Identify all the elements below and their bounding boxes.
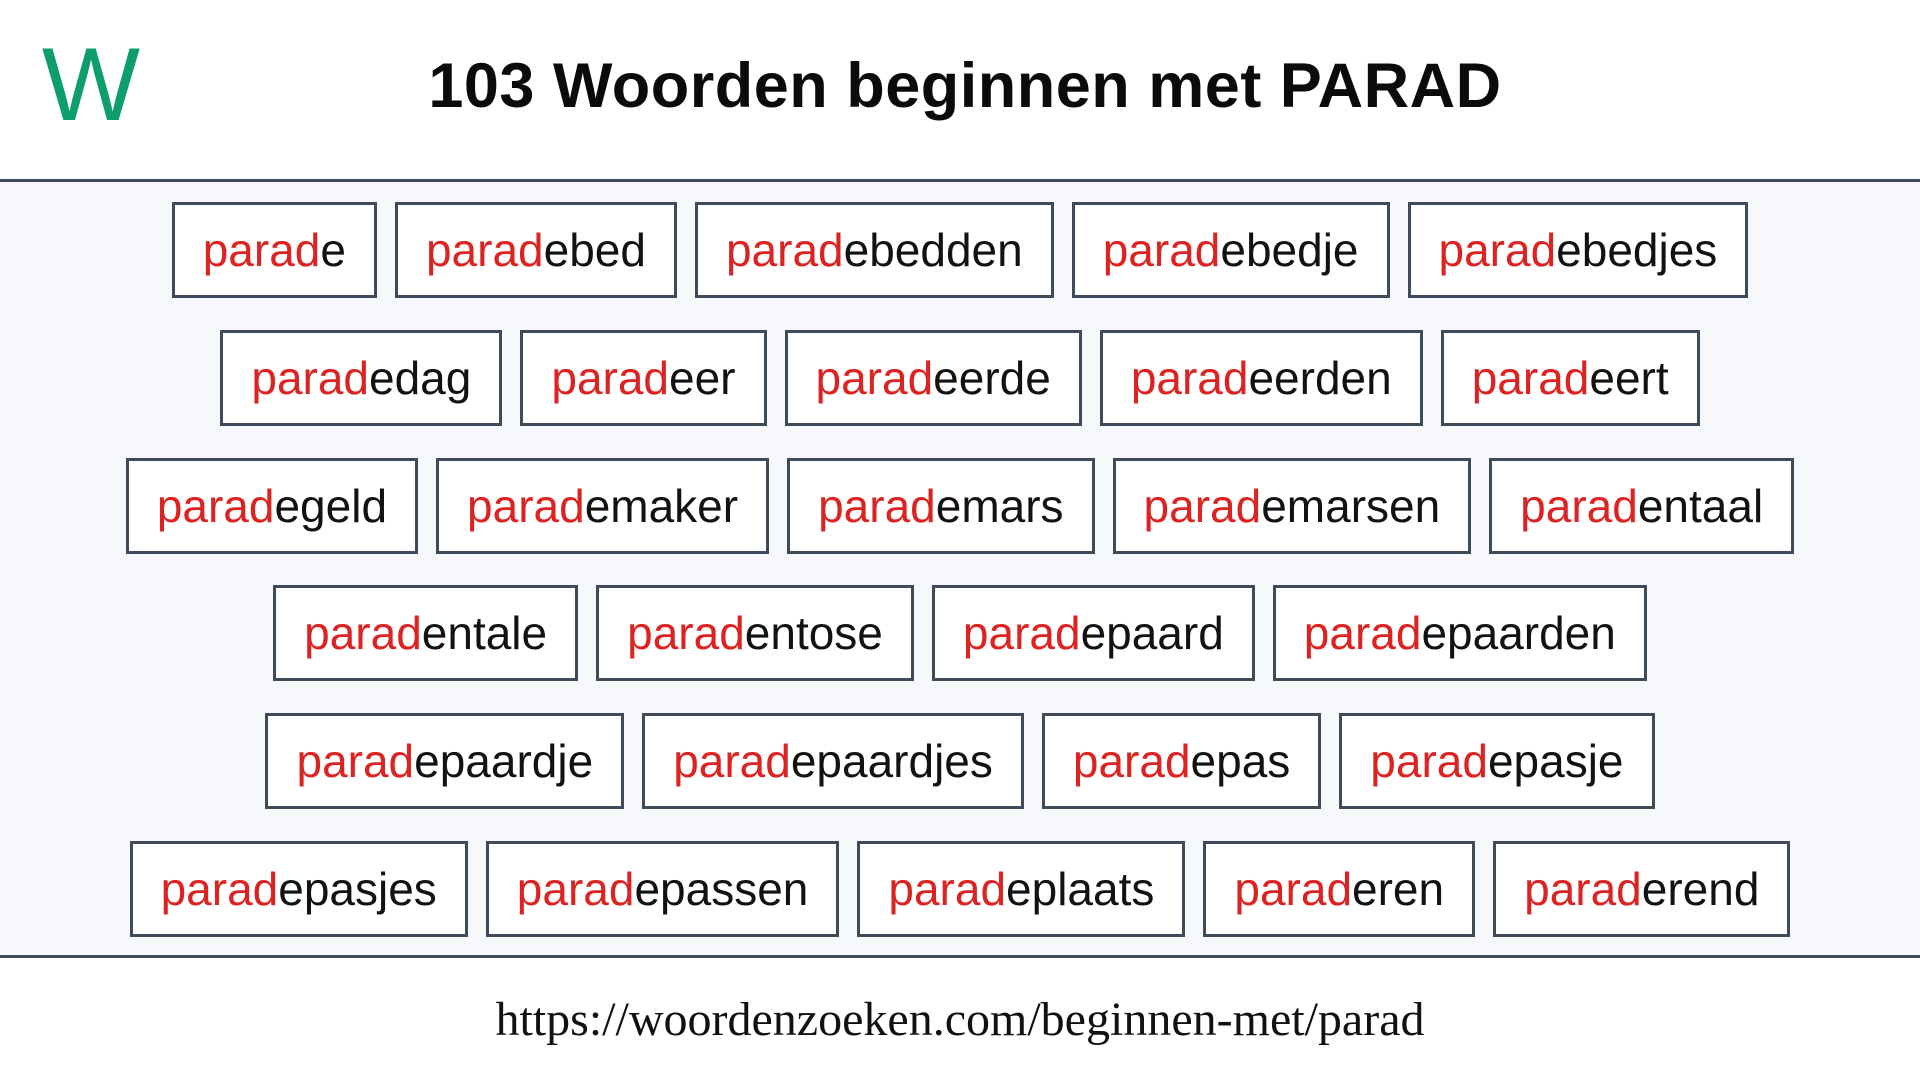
word-box[interactable]: paradedag (220, 330, 502, 426)
word-text: parademaker (467, 483, 738, 529)
word-box[interactable]: paradegeld (126, 458, 418, 554)
word-suffix: erend (1642, 863, 1760, 915)
word-prefix: parad (627, 607, 745, 659)
word-prefix: parad (157, 480, 275, 532)
word-suffix: e (320, 224, 346, 276)
word-suffix: ebedje (1220, 224, 1358, 276)
word-prefix: parad (304, 607, 422, 659)
word-prefix: parad (1520, 480, 1638, 532)
word-box[interactable]: paradebed (395, 202, 677, 298)
word-row: paradepaardjeparadepaardjesparadepaspara… (0, 713, 1920, 809)
word-text: paradebedjes (1439, 227, 1718, 273)
word-prefix: parad (816, 352, 934, 404)
word-text: paraderend (1524, 866, 1759, 912)
word-suffix: ebedjes (1556, 224, 1717, 276)
word-row: paradepasjesparadepassenparadeplaatspara… (0, 841, 1920, 937)
word-suffix: entale (422, 607, 547, 659)
word-text: paradentale (304, 610, 547, 656)
word-box[interactable]: paradepas (1042, 713, 1321, 809)
word-box[interactable]: paradeerden (1100, 330, 1423, 426)
word-suffix: eerde (933, 352, 1051, 404)
source-url: https://woordenzoeken.com/beginnen-met/p… (495, 992, 1424, 1047)
word-prefix: parad (251, 352, 369, 404)
word-text: paradepasjes (161, 866, 437, 912)
word-prefix: parad (1472, 352, 1590, 404)
word-prefix: parad (1131, 352, 1249, 404)
word-prefix: parad (467, 480, 585, 532)
word-text: paradepasje (1370, 738, 1623, 784)
word-suffix: edag (369, 352, 471, 404)
word-box[interactable]: paradebedden (695, 202, 1054, 298)
word-box[interactable]: paradepaard (932, 585, 1255, 681)
word-text: paradentose (627, 610, 883, 656)
word-suffix: epaardjes (791, 735, 993, 787)
word-suffix: epasjes (278, 863, 437, 915)
word-suffix: emaker (585, 480, 738, 532)
word-box[interactable]: paradeplaats (857, 841, 1185, 937)
word-suffix: eer (669, 352, 735, 404)
word-prefix: parad (161, 863, 279, 915)
word-text: paradepassen (517, 866, 809, 912)
word-suffix: epaard (1081, 607, 1224, 659)
word-grid: paradeparadebedparadebeddenparadebedjepa… (0, 182, 1920, 958)
word-suffix: ebedden (844, 224, 1023, 276)
word-box[interactable]: paradepaardje (265, 713, 624, 809)
word-prefix: parad (673, 735, 791, 787)
page-footer: https://woordenzoeken.com/beginnen-met/p… (0, 958, 1920, 1080)
word-prefix: parad (1144, 480, 1262, 532)
word-text: paradepas (1073, 738, 1290, 784)
word-box[interactable]: paradepassen (486, 841, 840, 937)
word-box[interactable]: paradepaardjes (642, 713, 1024, 809)
word-row: paradeparadebedparadebeddenparadebedjepa… (0, 202, 1920, 298)
word-text: paraderen (1234, 866, 1444, 912)
word-prefix: parad (203, 224, 321, 276)
word-list-page: W 103 Woorden beginnen met PARAD paradep… (0, 0, 1920, 1080)
word-suffix: epaardje (414, 735, 593, 787)
word-box[interactable]: paradentaal (1489, 458, 1794, 554)
word-box[interactable]: paraderen (1203, 841, 1475, 937)
word-suffix: eerden (1248, 352, 1391, 404)
word-text: paradedag (251, 355, 471, 401)
word-prefix: parad (1234, 863, 1352, 915)
word-prefix: parad (818, 480, 936, 532)
word-prefix: parad (426, 224, 544, 276)
word-box[interactable]: paradeerde (785, 330, 1082, 426)
word-box[interactable]: paradepasje (1339, 713, 1654, 809)
word-suffix: epaarden (1421, 607, 1615, 659)
word-box[interactable]: paradeer (520, 330, 766, 426)
word-text: parade (203, 227, 346, 273)
word-text: paradebedden (726, 227, 1023, 273)
word-prefix: parad (1370, 735, 1488, 787)
word-text: paradeer (551, 355, 735, 401)
word-suffix: emarsen (1261, 480, 1440, 532)
word-prefix: parad (1103, 224, 1221, 276)
word-box[interactable]: parademarsen (1113, 458, 1472, 554)
word-box[interactable]: paradepasjes (130, 841, 468, 937)
word-text: paradeerden (1131, 355, 1392, 401)
word-row: paradedagparadeerparadeerdeparadeerdenpa… (0, 330, 1920, 426)
word-text: parademarsen (1144, 483, 1441, 529)
word-prefix: parad (1524, 863, 1642, 915)
word-row: paradentaleparadentoseparadepaardparadep… (0, 585, 1920, 681)
word-row: paradegeldparademakerparademarsparademar… (0, 458, 1920, 554)
word-suffix: entose (745, 607, 883, 659)
word-text: paradebedje (1103, 227, 1359, 273)
word-suffix: emars (936, 480, 1064, 532)
word-prefix: parad (517, 863, 635, 915)
word-text: paradeert (1472, 355, 1669, 401)
word-box[interactable]: paradentale (273, 585, 578, 681)
word-box[interactable]: paradepaarden (1273, 585, 1647, 681)
word-box[interactable]: paradentose (596, 585, 914, 681)
word-text: paradepaardje (296, 738, 593, 784)
word-prefix: parad (1439, 224, 1557, 276)
word-suffix: eren (1352, 863, 1444, 915)
word-text: paradentaal (1520, 483, 1763, 529)
word-suffix: eert (1589, 352, 1668, 404)
word-suffix: epas (1191, 735, 1291, 787)
word-box[interactable]: paraderend (1493, 841, 1790, 937)
word-box[interactable]: paradebedje (1072, 202, 1390, 298)
word-prefix: parad (1073, 735, 1191, 787)
word-suffix: entaal (1638, 480, 1763, 532)
word-text: paradegeld (157, 483, 387, 529)
word-suffix: epasje (1488, 735, 1624, 787)
word-prefix: parad (726, 224, 844, 276)
word-text: paradepaardjes (673, 738, 993, 784)
word-box[interactable]: paradebedjes (1408, 202, 1749, 298)
word-text: paradeplaats (888, 866, 1154, 912)
word-text: paradeerde (816, 355, 1051, 401)
w-logo-icon: W (42, 33, 138, 137)
word-prefix: parad (888, 863, 1006, 915)
word-suffix: eplaats (1006, 863, 1154, 915)
word-box[interactable]: paradeert (1441, 330, 1700, 426)
title-container: 103 Woorden beginnen met PARAD (180, 50, 1920, 130)
word-prefix: parad (963, 607, 1081, 659)
site-logo[interactable]: W (0, 33, 180, 147)
word-prefix: parad (551, 352, 669, 404)
word-box[interactable]: parademaker (436, 458, 769, 554)
word-prefix: parad (296, 735, 414, 787)
word-box[interactable]: parade (172, 202, 377, 298)
word-text: parademars (818, 483, 1063, 529)
word-box[interactable]: parademars (787, 458, 1094, 554)
word-suffix: epassen (634, 863, 808, 915)
word-text: paradepaarden (1304, 610, 1616, 656)
word-suffix: egeld (274, 480, 387, 532)
word-suffix: ebed (544, 224, 646, 276)
word-text: paradebed (426, 227, 646, 273)
word-prefix: parad (1304, 607, 1422, 659)
page-title: 103 Woorden beginnen met PARAD (428, 50, 1501, 122)
word-text: paradepaard (963, 610, 1224, 656)
page-header: W 103 Woorden beginnen met PARAD (0, 0, 1920, 182)
